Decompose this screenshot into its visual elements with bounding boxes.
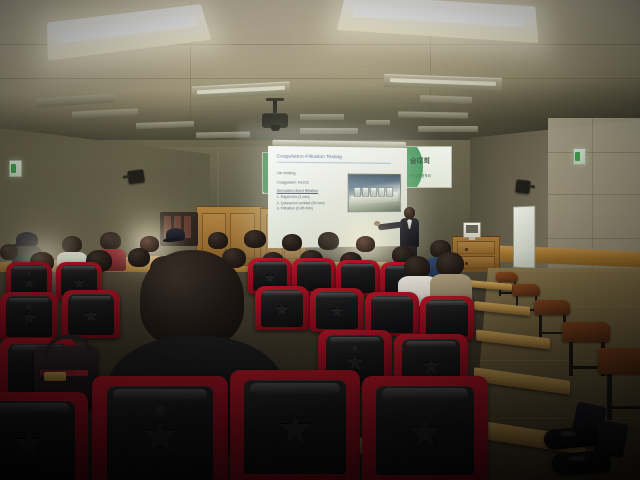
- auditorium-seat-foreground: ★: [362, 376, 488, 480]
- slide-title: Coagulation-Filtration Testing: [277, 153, 399, 160]
- seat-star-emblem: ★: [83, 307, 98, 324]
- seat-star-emblem: ★: [23, 275, 35, 288]
- seat-star-emblem: ★: [422, 355, 441, 376]
- seat-star-emblem: ★: [275, 302, 288, 317]
- conference-banner-right: 술대회 한국수자원학회: [404, 146, 452, 188]
- whiteboard: [513, 206, 535, 269]
- auditorium-seat: ★: [255, 286, 309, 330]
- lecture-hall-photo: 술대회 한국수자원학회 Coagulation-Filtration Testi…: [0, 0, 640, 480]
- banner-text-large: 술대회: [410, 156, 430, 166]
- auditorium-seat: ★: [0, 292, 58, 340]
- seat-star-emblem: ★: [265, 271, 276, 283]
- wall-speaker: [515, 179, 530, 194]
- wall-speaker: [127, 169, 145, 184]
- cap: [166, 228, 185, 241]
- ceiling-projector: [262, 112, 288, 134]
- projection-screen: Coagulation-Filtration Testing Jar testi…: [268, 146, 407, 248]
- cap: [16, 232, 38, 247]
- auditorium-seat-foreground: ★: [0, 392, 88, 480]
- seat-star-emblem: ★: [409, 414, 441, 450]
- head: [140, 250, 244, 348]
- ceiling-light-off: [418, 126, 478, 132]
- slide-line: Coagulant: FeCl3: [277, 179, 399, 185]
- seat-star-emblem: ★: [346, 351, 365, 372]
- banner-text-small: 한국수자원학회: [409, 173, 431, 178]
- auditorium-seat-foreground: ★: [92, 376, 228, 480]
- slide-line: Jar testing: [277, 170, 399, 176]
- slide-list-item: 3. Filtration (0.45 mm): [277, 206, 399, 212]
- seat-star-emblem: ★: [330, 304, 343, 319]
- seat-star-emblem: ★: [73, 275, 85, 288]
- stage-monitor: [463, 222, 481, 238]
- slide-subheading: Simulated direct filtration: [277, 189, 399, 194]
- seat-star-emblem: ★: [278, 410, 312, 448]
- emergency-exit-sign: [573, 148, 586, 165]
- auditorium-seat-foreground: ★: [230, 370, 360, 480]
- slide-title-rule: [277, 161, 391, 163]
- foreground-shoes: [556, 418, 640, 480]
- ceiling-light-off: [398, 111, 468, 118]
- presenter-hand: [374, 221, 380, 226]
- emergency-exit-sign: [9, 160, 22, 177]
- auditorium-seat: ★: [62, 290, 120, 338]
- seat-star-emblem: ★: [21, 309, 36, 326]
- slide-content: Coagulation-Filtration Testing Jar testi…: [268, 146, 407, 248]
- seat-star-emblem: ★: [14, 426, 44, 460]
- ceiling-light-off: [300, 114, 344, 120]
- auditorium-seat: ★: [310, 288, 364, 332]
- seat-star-emblem: ★: [142, 415, 178, 455]
